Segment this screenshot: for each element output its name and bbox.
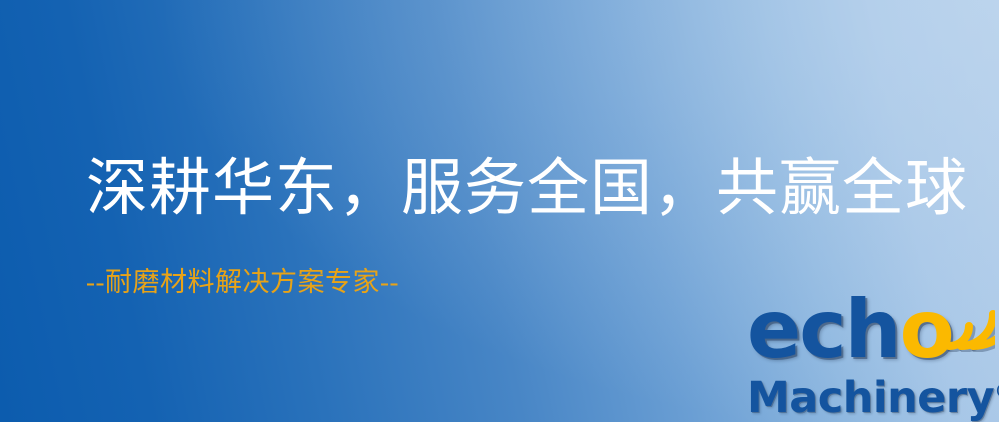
banner-content: 深耕华东，服务全国，共赢全球 --耐磨材料解决方案专家-- echo bbox=[0, 0, 999, 422]
signal-waves-icon bbox=[931, 294, 995, 352]
hero-banner: 深耕华东，服务全国，共赢全球 --耐磨材料解决方案专家-- echo bbox=[0, 0, 999, 422]
logo-echo-text: echo bbox=[747, 290, 953, 370]
logo-echo-prefix: ech bbox=[747, 283, 900, 376]
banner-subtitle: --耐磨材料解决方案专家-- bbox=[86, 265, 399, 299]
logo-tagline: Machinery® bbox=[747, 368, 999, 421]
logo-wordmark: echo bbox=[745, 296, 995, 374]
logo-tagline-text: Machinery bbox=[747, 373, 994, 422]
banner-headline: 深耕华东，服务全国，共赢全球 bbox=[86, 153, 968, 225]
registered-trademark-icon: ® bbox=[994, 379, 999, 403]
company-logo[interactable]: echo bbox=[745, 296, 995, 420]
